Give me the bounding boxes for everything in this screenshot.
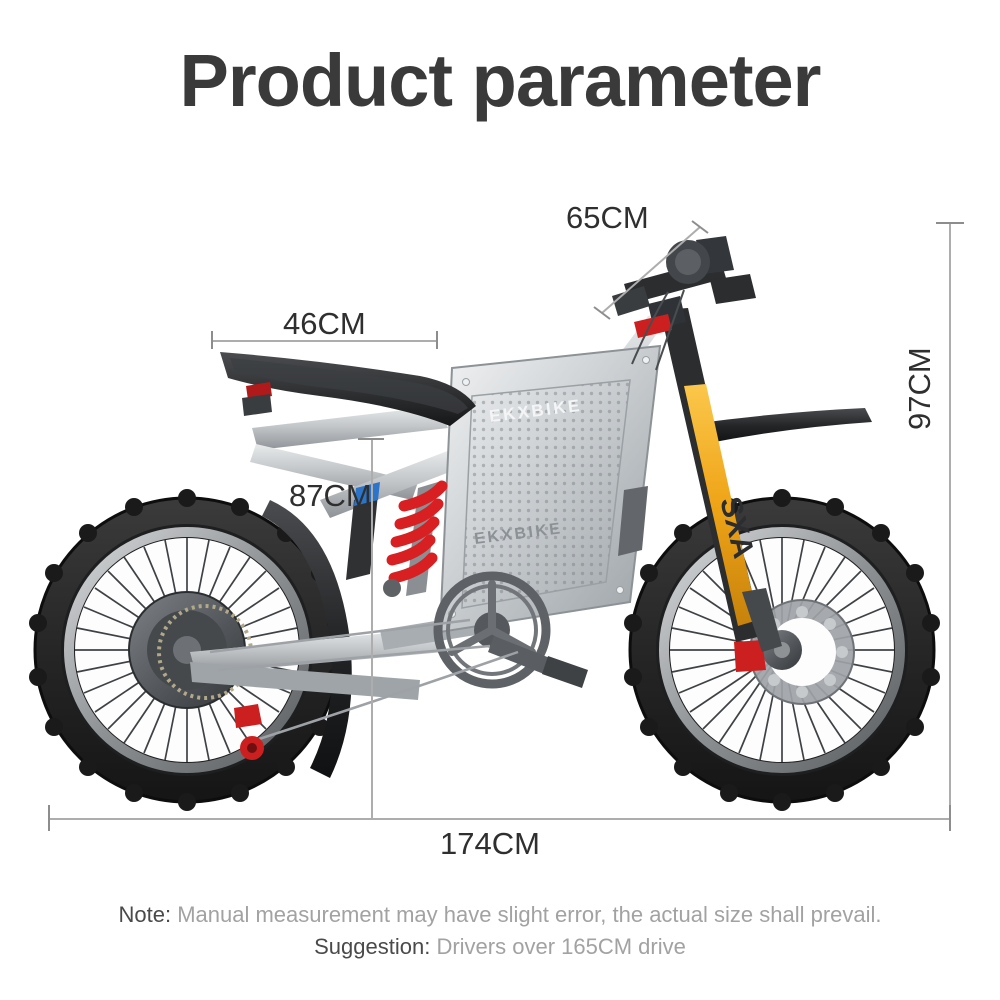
product-image-ebike: SXA EKXBIKE EKXB [20,200,950,820]
dimension-tick-174cm-right [949,805,951,831]
front-wheel [624,489,940,811]
rear-shock-absorber [374,482,442,692]
suggestion-label: Suggestion: [314,934,430,959]
note-label: Note: [118,902,171,927]
dimension-tick-46cm-right [436,331,438,349]
note-text: Manual measurement may have slight error… [177,902,881,927]
dimension-label-seat-length: 46CM [283,306,366,342]
dimension-tick-46cm-left [211,331,213,349]
dimension-tick-97cm-top [936,222,964,224]
product-parameter-page: Product parameter [0,0,1000,1000]
dimension-tick-87cm-top [358,438,384,440]
dimension-label-handlebar-width: 65CM [566,200,649,236]
dimension-line-174cm [48,818,951,820]
dimension-label-overall-height: 97CM [902,347,938,430]
suggestion-row: Suggestion: Drivers over 165CM drive [0,934,1000,960]
note-row: Note: Manual measurement may have slight… [0,902,1000,928]
dimension-line-97cm [949,222,951,820]
page-title: Product parameter [0,38,1000,123]
front-fender [692,408,872,444]
dimension-label-seat-height: 87CM [289,478,372,514]
dimension-tick-174cm-left [48,805,50,831]
tail-light [242,382,272,416]
dimension-label-overall-length: 174CM [440,826,540,862]
suggestion-text: Drivers over 165CM drive [436,934,685,959]
